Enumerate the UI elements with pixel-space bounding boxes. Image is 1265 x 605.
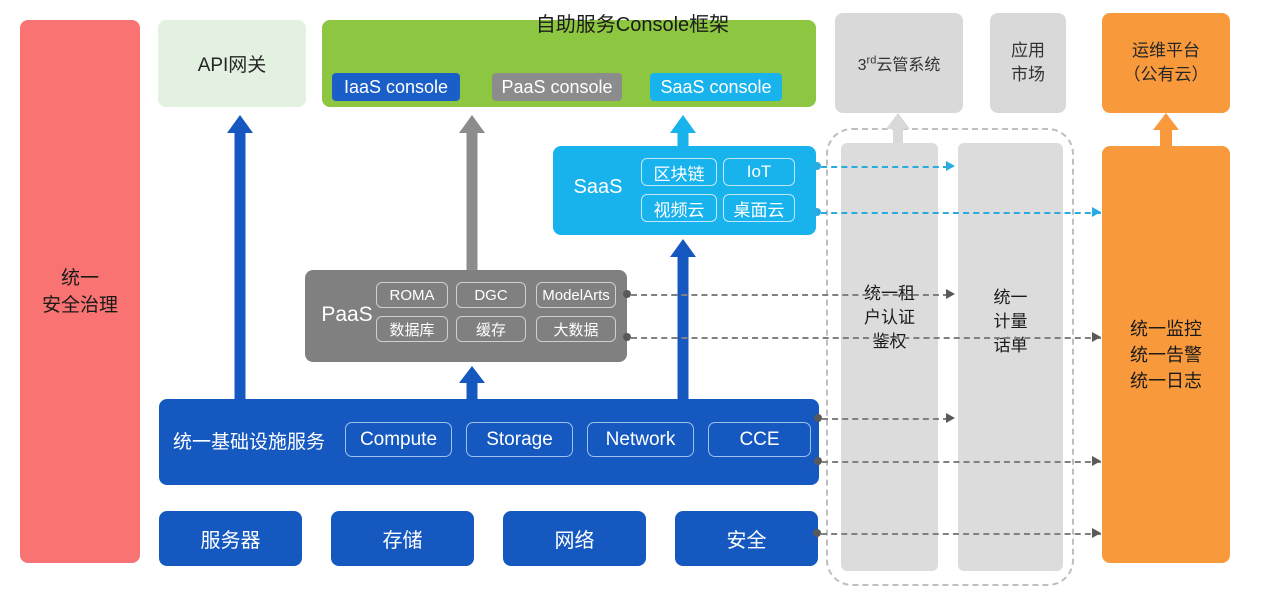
arrow-iaas-to-saas (669, 239, 697, 399)
third-party-prefix: 3 (858, 57, 867, 74)
paas-chip-cache[interactable]: 缓存 (456, 316, 526, 342)
connector-iaas-to-auth (822, 418, 949, 420)
paas-chip-roma[interactable]: ROMA (376, 282, 448, 308)
app-market-line2: 市场 (1011, 63, 1045, 87)
ops-platform-line2: （公有云） (1124, 63, 1209, 87)
connector-saas-to-ops (821, 212, 1101, 214)
console-chip-paas[interactable]: PaaS console (492, 73, 622, 101)
connector-dot-saas-auth (813, 162, 821, 170)
paas-chip-modelarts[interactable]: ModelArts (536, 282, 616, 308)
unified-tenant-auth-label: 统一租 户认证 鉴权 (841, 282, 938, 354)
auth-line3: 鉴权 (841, 330, 938, 354)
console-chip-saas[interactable]: SaaS console (650, 73, 782, 101)
connector-arrow-iaas-auth (946, 413, 955, 423)
connector-infra-to-ops (821, 533, 1101, 535)
console-framework-title: 自助服务Console框架 (0, 8, 1265, 37)
saas-chip-desktop-cloud[interactable]: 桌面云 (723, 194, 795, 222)
connector-dot-iaas-ops (814, 457, 822, 465)
arrow-paas-to-console (458, 115, 486, 270)
console-chip-iaas[interactable]: IaaS console (332, 73, 460, 101)
connector-saas-to-auth (821, 166, 949, 168)
saas-layer-label: SaaS (563, 176, 633, 199)
security-column-line2: 安全治理 (42, 292, 118, 319)
connector-iaas-to-ops (822, 461, 1101, 463)
arrow-to-ops-platform (1153, 113, 1179, 147)
saas-chip-blockchain[interactable]: 区块链 (641, 158, 717, 186)
ops-platform-box: 运维平台 （公有云） (1102, 13, 1230, 113)
connector-dot-saas-ops (813, 208, 821, 216)
iaas-chip-cce[interactable]: CCE (708, 422, 811, 457)
auth-line2: 户认证 (841, 306, 938, 330)
metering-line2: 计量 (958, 310, 1063, 334)
app-market-line1: 应用 (1011, 39, 1045, 63)
arrow-saas-to-console (669, 115, 697, 146)
app-market-box: 应用 市场 (990, 13, 1066, 113)
iaas-chip-storage[interactable]: Storage (466, 422, 573, 457)
third-party-sup: rd (867, 55, 877, 67)
infra-box-server[interactable]: 服务器 (159, 511, 302, 566)
ops-column-line3: 统一日志 (1130, 368, 1202, 394)
iaas-chip-network[interactable]: Network (587, 422, 694, 457)
unified-monitoring-column: 统一监控 统一告警 统一日志 (1102, 146, 1230, 563)
security-column-line1: 统一 (42, 265, 118, 292)
connector-dot-iaas-auth (814, 414, 822, 422)
ops-column-line2: 统一告警 (1130, 342, 1202, 368)
paas-chip-bigdata[interactable]: 大数据 (536, 316, 616, 342)
arrow-iaas-to-api-gateway (226, 115, 254, 399)
saas-chip-iot[interactable]: IoT (723, 158, 795, 186)
architecture-diagram: 统一 安全治理 API网关 自助服务Console框架 IaaS console… (0, 0, 1265, 605)
connector-arrow-paas-ops (1092, 332, 1101, 342)
iaas-layer-label: 统一基础设施服务 (173, 427, 325, 454)
connector-arrow-saas-auth (946, 161, 955, 171)
connector-paas-to-auth (631, 294, 949, 296)
third-party-suffix: 云管系统 (876, 57, 940, 74)
connector-arrow-iaas-ops (1092, 456, 1101, 466)
third-party-cloud-mgmt-box: 3rd云管系统 (835, 13, 963, 113)
paas-layer-label: PaaS (313, 303, 381, 327)
connector-arrow-infra-ops (1092, 528, 1101, 538)
paas-chip-database[interactable]: 数据库 (376, 316, 448, 342)
arrow-iaas-to-paas (458, 366, 486, 399)
iaas-chip-compute[interactable]: Compute (345, 422, 452, 457)
infra-box-storage[interactable]: 存储 (331, 511, 474, 566)
metering-line1: 统一 (958, 286, 1063, 310)
arrow-to-third-party-cloud (885, 113, 911, 143)
saas-chip-video-cloud[interactable]: 视频云 (641, 194, 717, 222)
unified-metering-label: 统一 计量 话单 (958, 286, 1063, 358)
ops-column-line1: 统一监控 (1130, 316, 1202, 342)
unified-tenant-auth-column (841, 143, 938, 571)
connector-dot-paas-ops (623, 333, 631, 341)
connector-dot-infra-ops (813, 529, 821, 537)
paas-chip-dgc[interactable]: DGC (456, 282, 526, 308)
infra-box-network[interactable]: 网络 (503, 511, 646, 566)
connector-arrow-saas-ops (1092, 207, 1101, 217)
api-gateway-label: API网关 (198, 50, 267, 77)
connector-arrow-paas-auth (946, 289, 955, 299)
security-governance-column: 统一 安全治理 (20, 20, 140, 563)
connector-paas-to-ops (631, 337, 1101, 339)
ops-platform-line1: 运维平台 (1124, 39, 1209, 63)
infra-box-security[interactable]: 安全 (675, 511, 818, 566)
connector-dot-paas-auth (623, 290, 631, 298)
